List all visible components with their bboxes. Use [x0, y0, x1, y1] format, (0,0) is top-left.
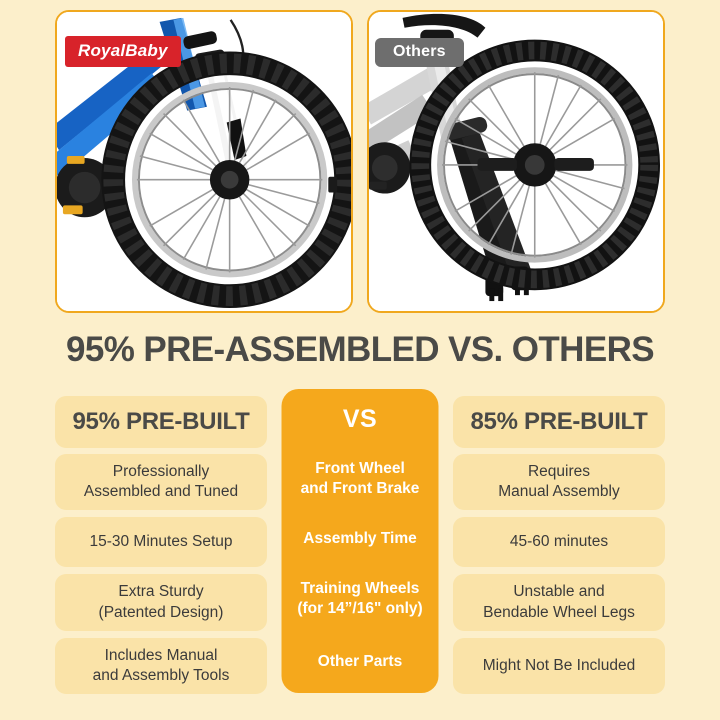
table-row: Might Not Be Included	[453, 638, 665, 694]
table-row: Other Parts	[282, 631, 439, 693]
left-column-header: 95% PRE-BUILT	[55, 396, 267, 448]
product-photo-row: RoyalBaby	[55, 10, 665, 313]
comparison-column-others: 85% PRE-BUILT RequiresManual Assembly 45…	[453, 396, 665, 694]
table-row: 45-60 minutes	[453, 517, 665, 567]
right-column-header: 85% PRE-BUILT	[453, 396, 665, 448]
table-row: Includes Manualand Assembly Tools	[55, 638, 267, 694]
table-row: ProfessionallyAssembled and Tuned	[55, 454, 267, 510]
comparison-column-center: VS Front Wheeland Front Brake Assembly T…	[282, 389, 439, 693]
photo-panel-royalbaby: RoyalBaby	[55, 10, 353, 313]
table-row: Extra Sturdy(Patented Design)	[55, 574, 267, 631]
comparison-table: 95% PRE-BUILT ProfessionallyAssembled an…	[55, 396, 665, 700]
table-row: Unstable andBendable Wheel Legs	[453, 574, 665, 631]
comparison-column-royalbaby: 95% PRE-BUILT ProfessionallyAssembled an…	[55, 396, 267, 694]
table-row: RequiresManual Assembly	[453, 454, 665, 510]
others-brand-badge: Others	[375, 38, 464, 67]
table-row: 15-30 Minutes Setup	[55, 517, 267, 567]
center-column-header: VS	[282, 389, 439, 448]
photo-panel-others: Others	[367, 10, 665, 313]
table-row: Assembly Time	[282, 510, 439, 567]
table-row: Front Wheeland Front Brake	[282, 448, 439, 510]
royalbaby-brand-badge: RoyalBaby	[65, 36, 181, 67]
page-title: 95% PRE-ASSEMBLED VS. OTHERS	[0, 330, 720, 370]
table-row: Training Wheels(for 14”/16" only)	[282, 567, 439, 631]
